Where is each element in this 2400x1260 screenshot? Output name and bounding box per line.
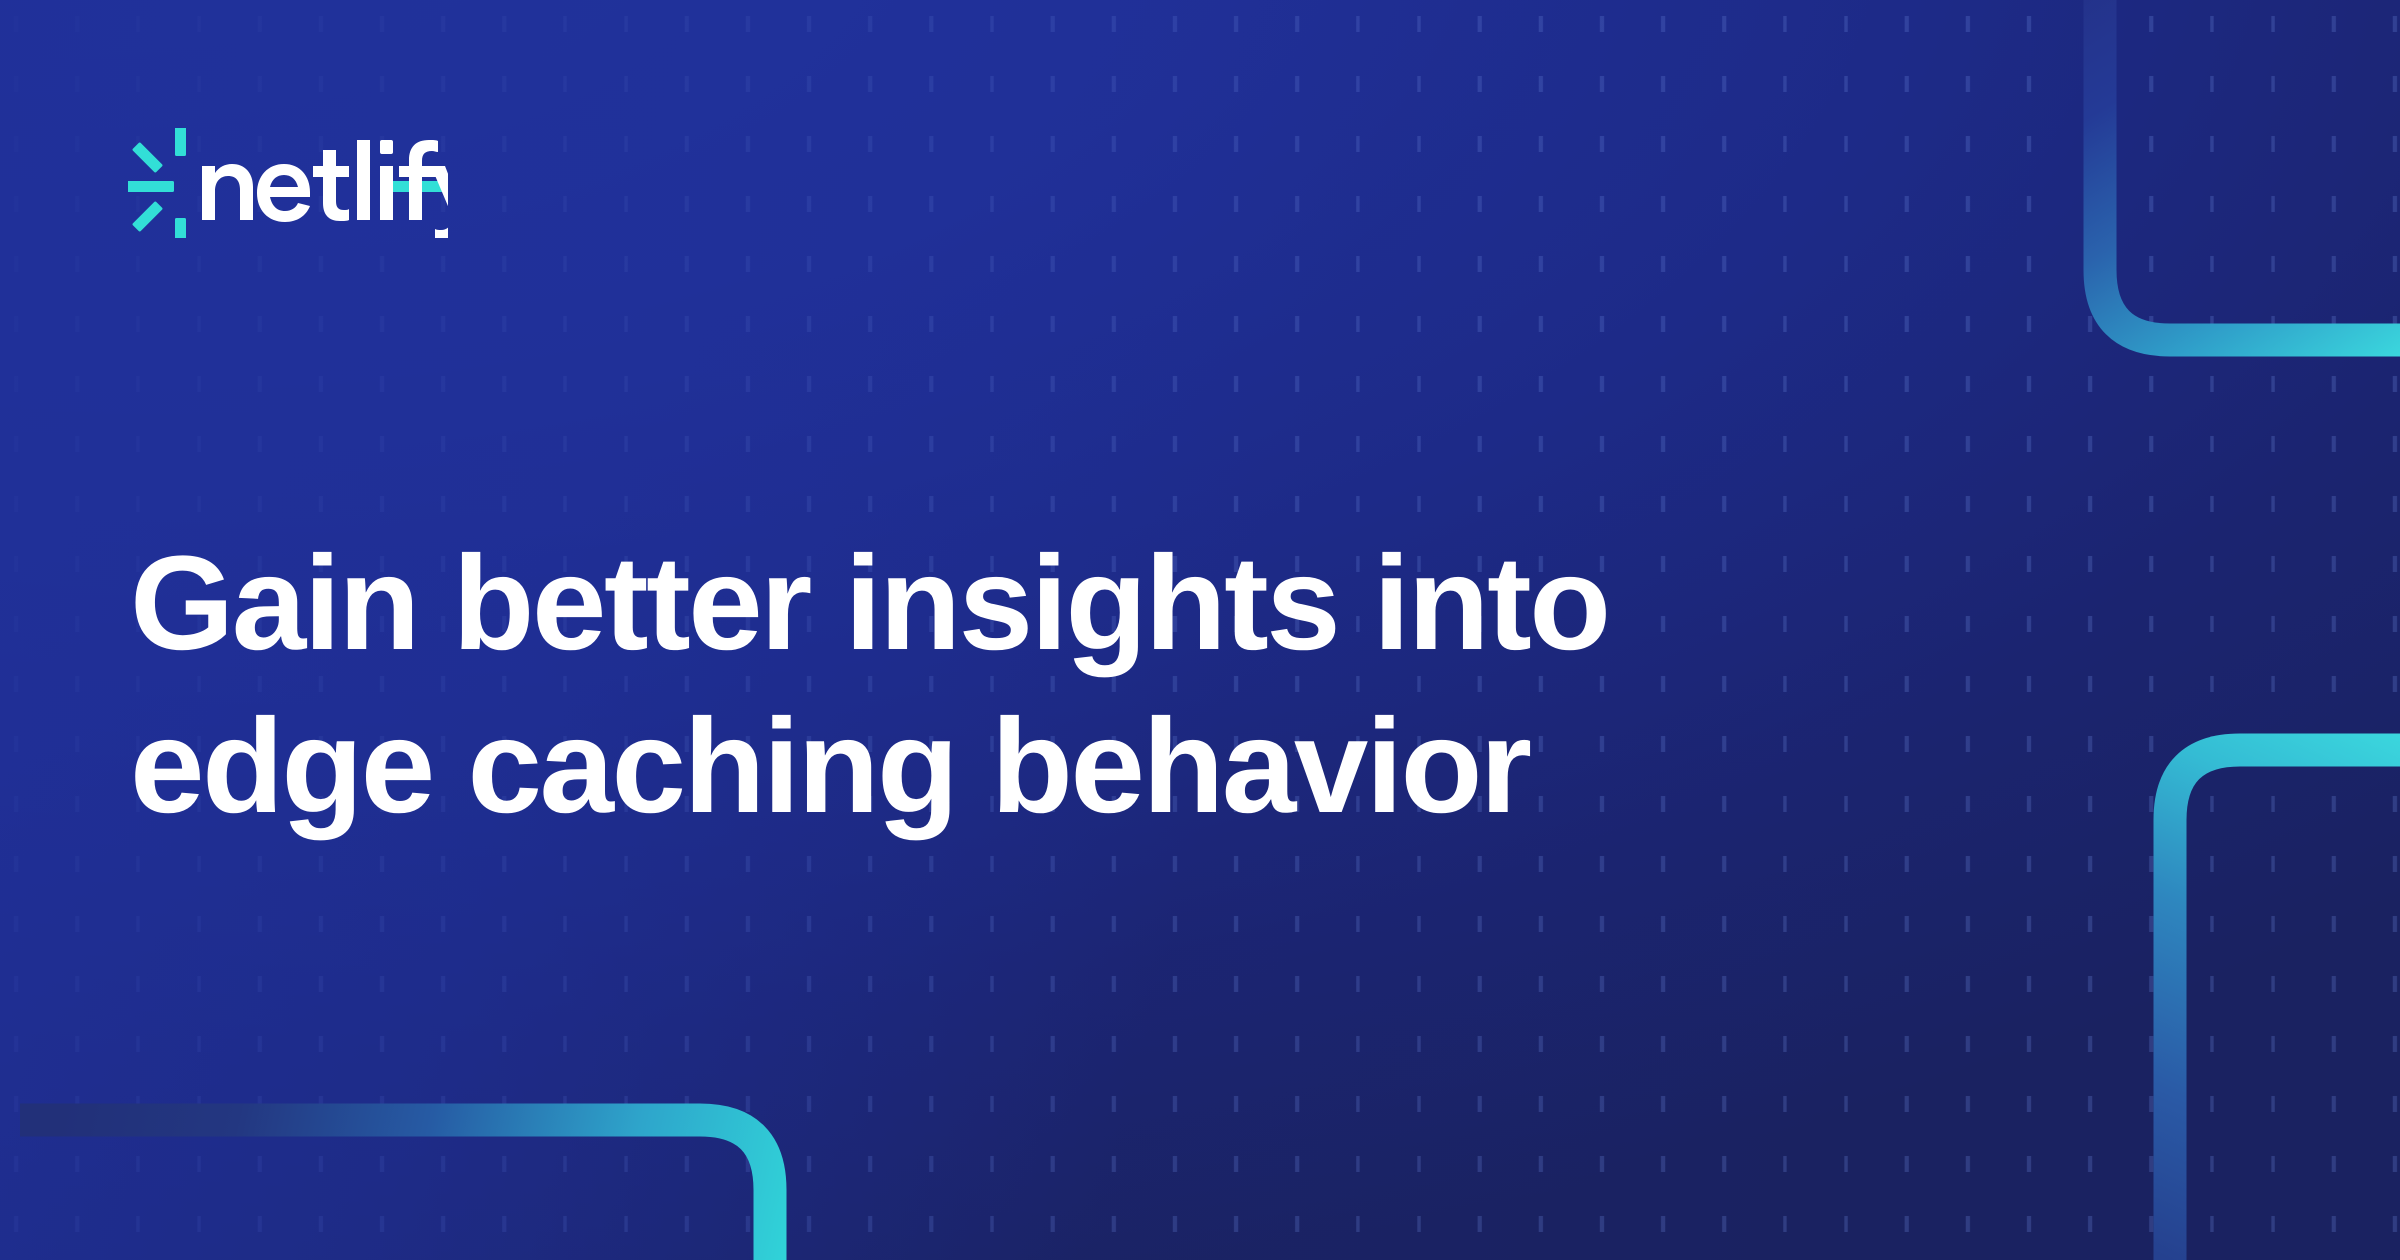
netlify-wordmark [202, 140, 448, 238]
bracket-right-lower [2120, 660, 2400, 1260]
slide-headline: Gain better insights into edge caching b… [130, 522, 1730, 849]
slide-canvas: Gain better insights into edge caching b… [0, 0, 2400, 1260]
bracket-top-right [2040, 0, 2400, 460]
netlify-logo[interactable] [128, 128, 448, 238]
ray-upper-left-diagonal [132, 142, 163, 173]
bracket-bottom-left [60, 1060, 880, 1260]
ray-lower-left-diagonal [132, 201, 163, 232]
ray-top-vertical [175, 128, 186, 156]
netlify-logo-svg [128, 128, 448, 238]
ray-left-horizontal [128, 181, 174, 192]
ray-bottom-vertical [175, 218, 186, 238]
